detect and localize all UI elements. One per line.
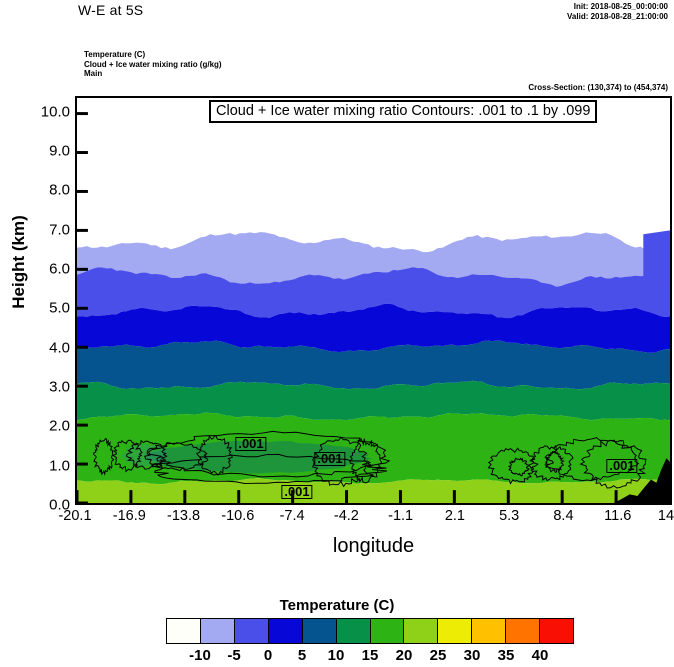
contour-label: .001 (235, 437, 266, 451)
colorbar-swatch (472, 619, 506, 643)
y-tick-label: 5.0 (49, 300, 70, 317)
x-tick-label: -13.8 (167, 508, 200, 524)
colorbar-tick-label: 20 (396, 647, 413, 664)
page-title: W-E at 5S (78, 2, 143, 18)
colorbar-tick-label: 0 (264, 647, 272, 664)
colorbar-swatch (438, 619, 472, 643)
x-tick-label: -7.4 (280, 508, 305, 524)
colorbar-tick-label: 40 (532, 647, 549, 664)
x-axis-title: longitude (75, 535, 672, 558)
x-tick-label: -10.6 (221, 508, 254, 524)
colorbar-swatch (303, 619, 337, 643)
y-tick-label: 1.0 (49, 457, 70, 474)
contour-label: .001 (606, 459, 637, 473)
y-axis-title: Height (km) (9, 207, 29, 317)
colorbar-tick-label: 5 (298, 647, 306, 664)
x-axis-ticks: -20.1-16.9-13.8-10.6-7.4-4.2-1.12.15.38.… (75, 508, 672, 530)
colorbar-swatch (506, 619, 540, 643)
contour-label: .001 (281, 485, 312, 499)
y-tick-label: 3.0 (49, 379, 70, 396)
cross-section-label: Cross-Section: (130,374) to (454,374) (528, 83, 668, 92)
colorbar (166, 618, 574, 644)
field-line-domain: Main (84, 69, 222, 79)
init-time-label: Init: 2018-08-25_00:00:00 (574, 2, 668, 11)
y-tick-label: 7.0 (49, 221, 70, 238)
y-tick-label: 8.0 (49, 182, 70, 199)
x-tick-label: -1.1 (388, 508, 413, 524)
cross-section-plot (75, 96, 672, 505)
colorbar-swatch (235, 619, 269, 643)
colorbar-tick-label: 30 (464, 647, 481, 664)
x-tick-label: 5.3 (499, 508, 519, 524)
colorbar-swatch (167, 619, 201, 643)
field-line-temperature: Temperature (C) (84, 50, 222, 60)
x-tick-label: -16.9 (113, 508, 146, 524)
plot-title-box: Cloud + Ice water mixing ratio Contours:… (209, 100, 597, 123)
x-tick-label: 11.6 (604, 508, 631, 524)
y-tick-label: 2.0 (49, 418, 70, 435)
x-tick-label: -20.1 (58, 508, 91, 524)
colorbar-swatch (404, 619, 438, 643)
axis-tickmarks (77, 98, 670, 503)
colorbar-swatch (269, 619, 303, 643)
colorbar-tick-labels: -10-50510152025303540 (166, 647, 574, 667)
x-tick-label: -4.2 (334, 508, 359, 524)
field-line-mixing-ratio: Cloud + Ice water mixing ratio (g/kg) (84, 60, 222, 70)
y-tick-label: 10.0 (41, 103, 70, 120)
colorbar-tick-label: -10 (189, 647, 211, 664)
y-tick-label: 4.0 (49, 339, 70, 356)
colorbar-tick-label: 10 (328, 647, 345, 664)
colorbar-tick-label: 25 (430, 647, 447, 664)
x-tick-label: 14.8 (658, 508, 674, 524)
colorbar-tick-label: -5 (227, 647, 240, 664)
field-description-block: Temperature (C) Cloud + Ice water mixing… (84, 50, 222, 79)
colorbar-swatch (201, 619, 235, 643)
contour-label: .001 (314, 452, 345, 466)
x-tick-label: 2.1 (445, 508, 465, 524)
colorbar-tick-label: 35 (498, 647, 515, 664)
colorbar-swatch (540, 619, 573, 643)
y-tick-label: 9.0 (49, 143, 70, 160)
valid-time-label: Valid: 2018-08-28_21:00:00 (567, 12, 668, 21)
y-tick-label: 6.0 (49, 261, 70, 278)
colorbar-tick-label: 15 (362, 647, 379, 664)
x-tick-label: 8.4 (553, 508, 573, 524)
colorbar-title: Temperature (C) (0, 597, 674, 614)
colorbar-swatch (371, 619, 405, 643)
colorbar-swatch (337, 619, 371, 643)
